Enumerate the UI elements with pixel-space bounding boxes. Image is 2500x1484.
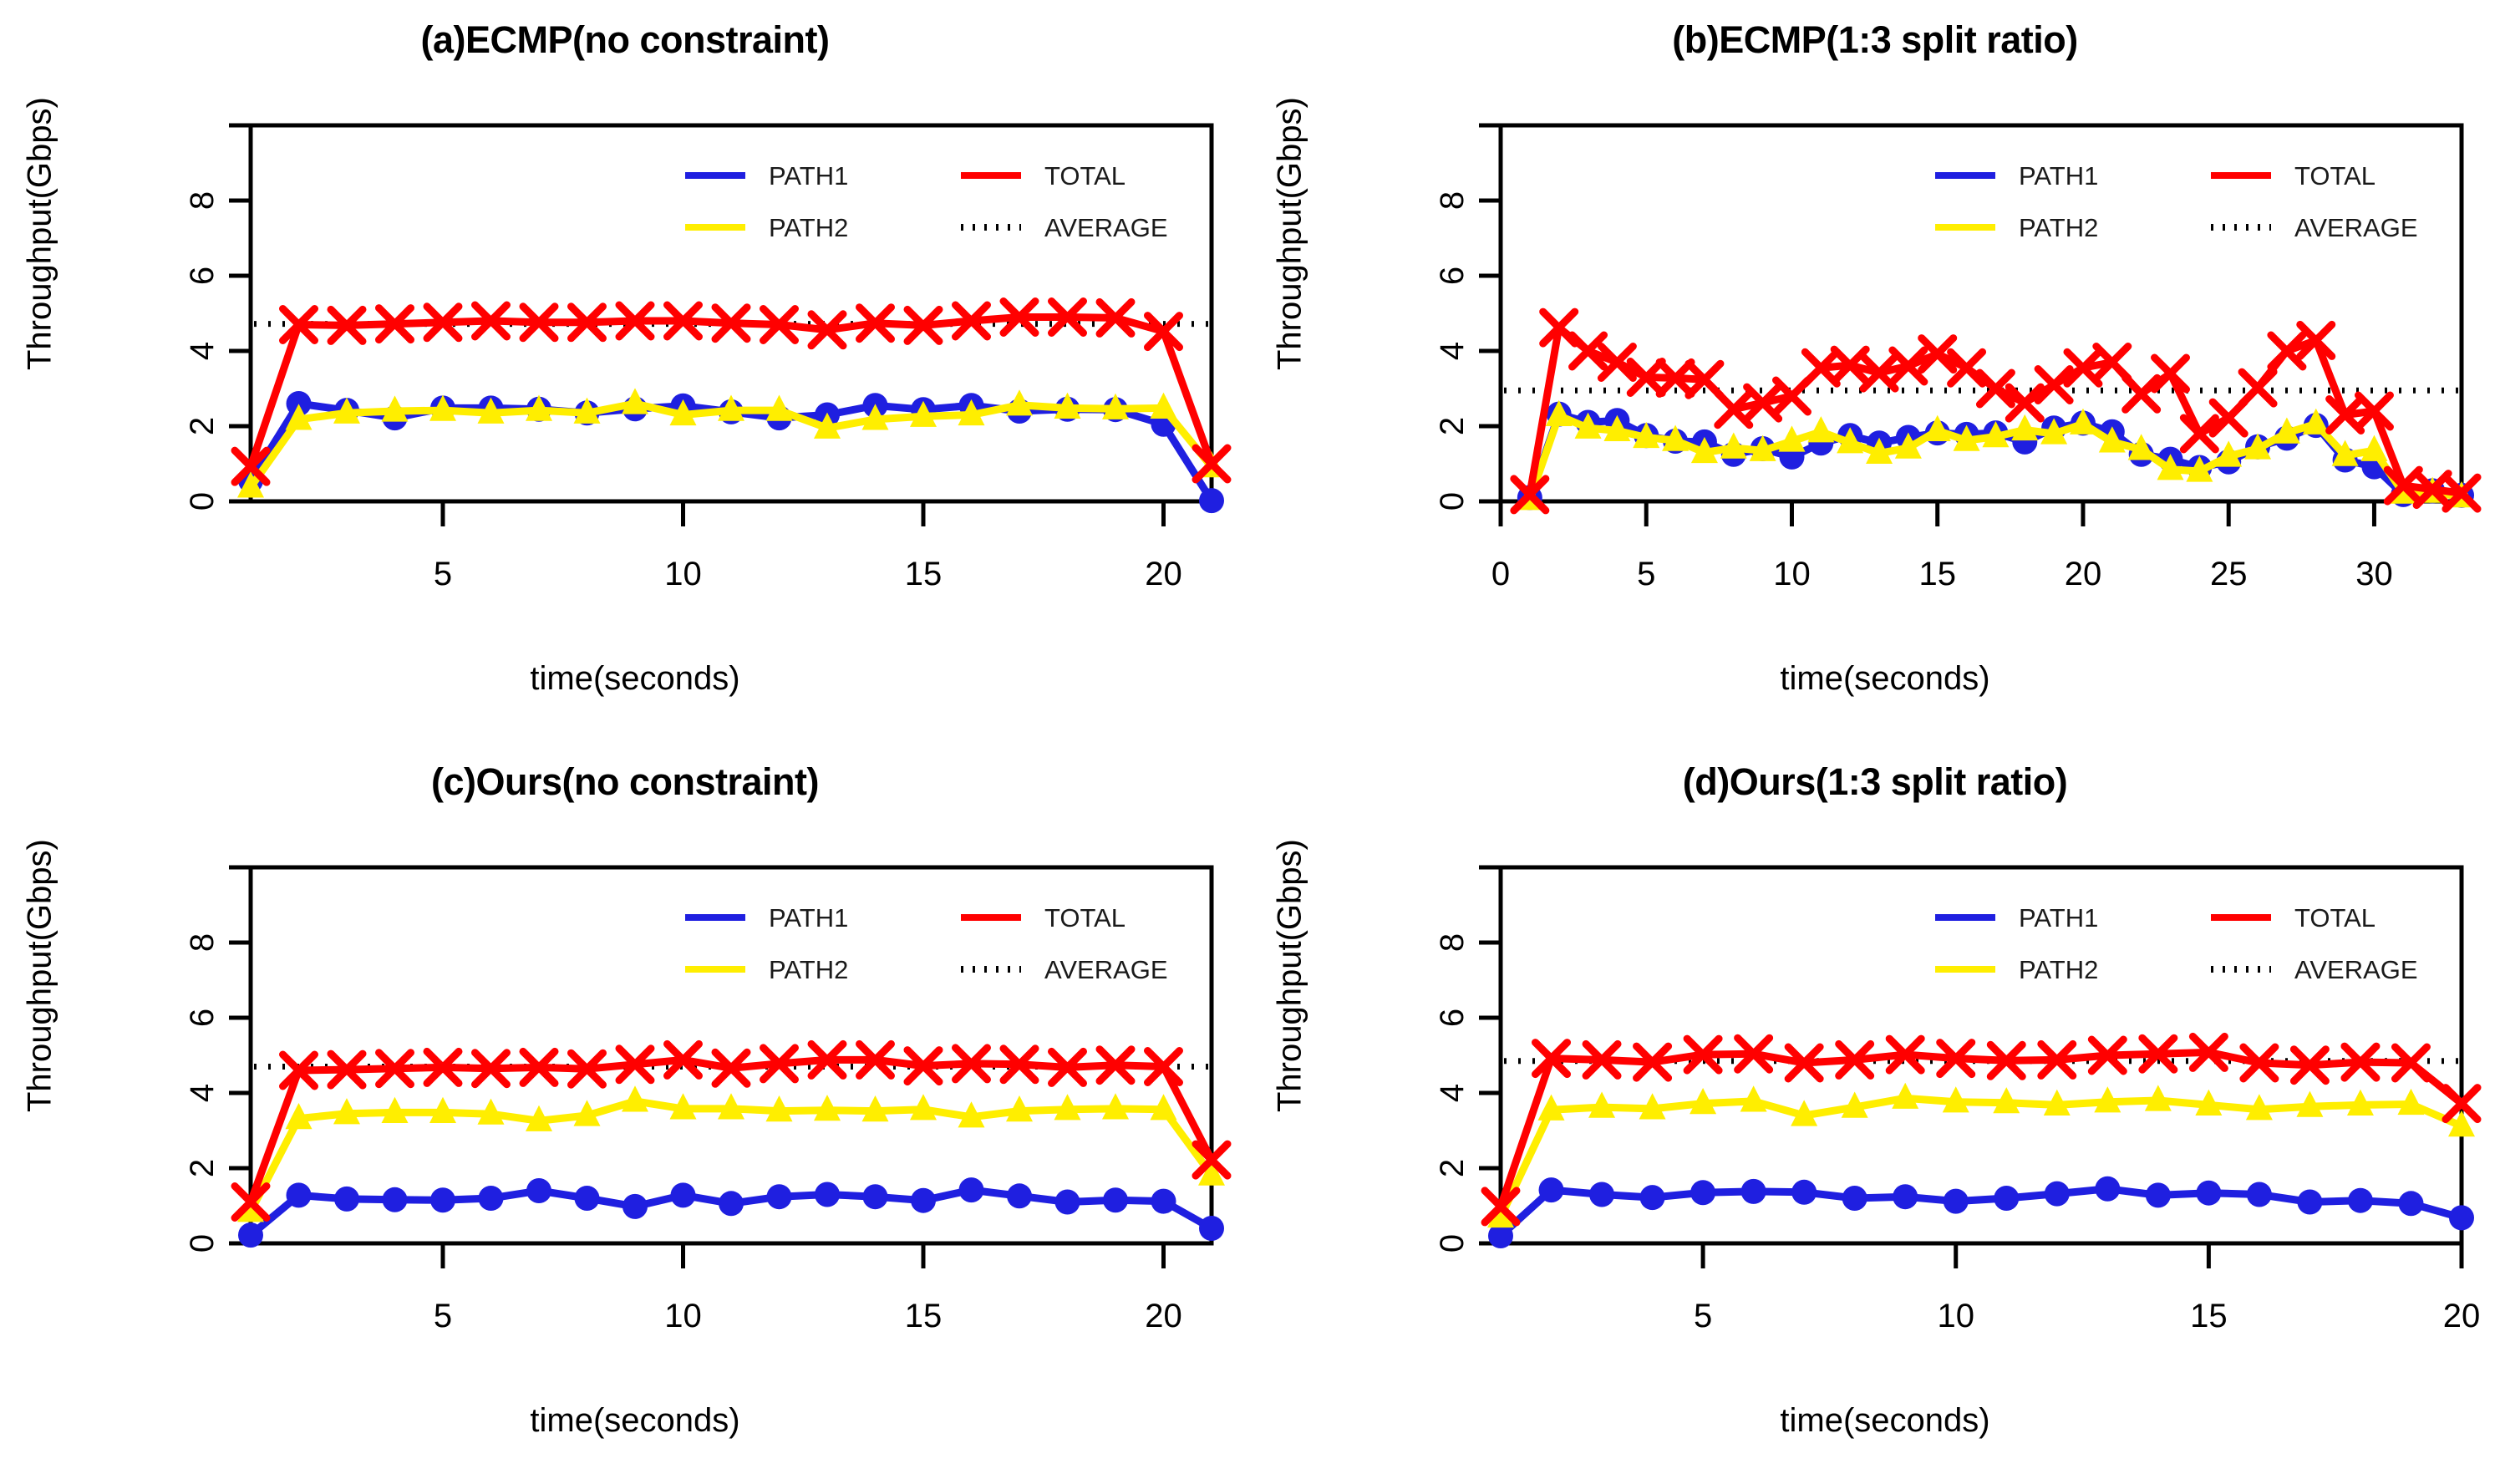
marker-circle	[959, 1177, 984, 1202]
series-line-total	[251, 318, 1212, 467]
marker-circle	[1151, 1189, 1176, 1214]
y-tick-label: 2	[1434, 1159, 1471, 1177]
marker-circle	[767, 1184, 792, 1209]
marker-circle	[1791, 1180, 1817, 1205]
panel-d-svg: 024685101520PATH1PATH2TOTALAVERAGE	[1250, 742, 2500, 1484]
marker-circle	[1741, 1179, 1766, 1204]
marker-circle	[1199, 1216, 1224, 1241]
legend-label-total: TOTAL	[2294, 161, 2376, 191]
series-path1	[1488, 1177, 2474, 1248]
y-tick-label: 4	[1434, 1084, 1471, 1102]
marker-circle	[1690, 1180, 1715, 1205]
x-tick-label: 25	[2210, 556, 2248, 592]
y-tick-label: 6	[184, 267, 221, 285]
panel-c-svg: 024685101520PATH1PATH2TOTALAVERAGE	[0, 742, 1250, 1484]
x-tick-label: 15	[2190, 1298, 2228, 1334]
panel-b-xlabel: time(seconds)	[1384, 660, 2386, 698]
y-tick-label: 0	[184, 492, 221, 511]
marker-circle	[2348, 1188, 2373, 1213]
panel-a: (a)ECMP(no constraint) Throughput(Gbps) …	[0, 0, 1250, 742]
y-tick-label: 8	[1434, 933, 1471, 952]
marker-circle	[1007, 1183, 1032, 1208]
marker-circle	[526, 1178, 551, 1203]
series-total	[235, 302, 1227, 483]
marker-circle	[2196, 1181, 2221, 1206]
x-tick-label: 30	[2355, 556, 2393, 592]
x-tick-label: 15	[905, 556, 943, 592]
series-line-total	[1530, 328, 2462, 495]
x-tick-label: 20	[2443, 1298, 2481, 1334]
marker-circle	[238, 1222, 263, 1248]
marker-circle	[911, 1188, 936, 1213]
marker-circle	[2146, 1182, 2171, 1207]
marker-circle	[719, 1191, 744, 1216]
y-tick-label: 6	[184, 1009, 221, 1027]
panel-d-plot: 024685101520PATH1PATH2TOTALAVERAGE	[1250, 742, 2500, 1484]
marker-circle	[1199, 488, 1224, 513]
y-tick-label: 2	[1434, 417, 1471, 435]
x-tick-label: 0	[1491, 556, 1510, 592]
legend: PATH1PATH2TOTALAVERAGE	[685, 161, 1168, 242]
panel-b: (b)ECMP(1:3 split ratio) Throughput(Gbps…	[1250, 0, 2500, 742]
legend-label-total: TOTAL	[2294, 903, 2376, 933]
panel-a-plot: 024685101520PATH1PATH2TOTALAVERAGE	[0, 0, 1250, 742]
legend-label-path1: PATH1	[2019, 161, 2098, 191]
series-path1	[1517, 402, 2474, 511]
x-tick-label: 5	[1637, 556, 1655, 592]
x-tick-label: 15	[905, 1298, 943, 1334]
panel-d-xlabel: time(seconds)	[1384, 1402, 2386, 1440]
legend-label-path1: PATH1	[769, 161, 848, 191]
panel-b-svg: 02468051015202530PATH1PATH2TOTALAVERAGE	[1250, 0, 2500, 742]
legend-label-path2: PATH2	[769, 955, 848, 984]
y-tick-label: 8	[1434, 191, 1471, 210]
marker-circle	[1893, 1184, 1918, 1209]
marker-circle	[1103, 1187, 1128, 1212]
y-tick-label: 2	[184, 417, 221, 435]
marker-circle	[1640, 1185, 1665, 1210]
marker-circle	[383, 1187, 408, 1212]
marker-circle	[575, 1186, 600, 1211]
marker-circle	[479, 1186, 504, 1211]
panel-a-xlabel: time(seconds)	[134, 660, 1136, 698]
panel-b-plot: 02468051015202530PATH1PATH2TOTALAVERAGE	[1250, 0, 2500, 742]
x-tick-label: 10	[1773, 556, 1811, 592]
legend-label-path1: PATH1	[769, 903, 848, 933]
marker-circle	[863, 1184, 888, 1209]
legend-label-total: TOTAL	[1044, 161, 1126, 191]
legend: PATH1PATH2TOTALAVERAGE	[1935, 903, 2418, 984]
x-tick-label: 20	[1145, 556, 1182, 592]
y-tick-label: 6	[1434, 1009, 1471, 1027]
marker-circle	[2045, 1182, 2070, 1207]
marker-circle	[1842, 1186, 1867, 1211]
y-tick-label: 8	[184, 191, 221, 210]
panel-d: (d)Ours(1:3 split ratio) Throughput(Gbps…	[1250, 742, 2500, 1484]
panel-c-plot: 024685101520PATH1PATH2TOTALAVERAGE	[0, 742, 1250, 1484]
marker-triangle	[1807, 416, 1834, 442]
y-tick-label: 0	[1434, 492, 1471, 511]
marker-circle	[2449, 1205, 2474, 1230]
y-tick-label: 4	[184, 1084, 221, 1102]
marker-circle	[2297, 1190, 2322, 1215]
marker-circle	[1944, 1189, 1969, 1214]
x-tick-label: 10	[664, 556, 702, 592]
panel-c: (c)Ours(no constraint) Throughput(Gbps) …	[0, 742, 1250, 1484]
marker-circle	[2398, 1191, 2423, 1216]
legend-label-average: AVERAGE	[2294, 955, 2418, 984]
legend: PATH1PATH2TOTALAVERAGE	[1935, 161, 2418, 242]
y-tick-label: 2	[184, 1159, 221, 1177]
x-tick-label: 5	[1694, 1298, 1712, 1334]
marker-circle	[1589, 1182, 1614, 1207]
legend-label-path2: PATH2	[2019, 213, 2098, 242]
legend: PATH1PATH2TOTALAVERAGE	[685, 903, 1168, 984]
marker-circle	[1539, 1177, 1564, 1202]
panel-c-xlabel: time(seconds)	[134, 1402, 1136, 1440]
x-tick-label: 5	[434, 1298, 452, 1334]
marker-circle	[1994, 1186, 2019, 1211]
series-line-total	[251, 1060, 1212, 1202]
x-tick-label: 10	[664, 1298, 702, 1334]
figure-root: (a)ECMP(no constraint) Throughput(Gbps) …	[0, 0, 2500, 1484]
series-path2	[1517, 400, 2475, 511]
x-tick-label: 15	[1918, 556, 1956, 592]
marker-circle	[334, 1187, 359, 1212]
x-tick-label: 20	[1145, 1298, 1182, 1334]
x-tick-label: 5	[434, 556, 452, 592]
y-tick-label: 4	[184, 342, 221, 360]
x-tick-label: 20	[2065, 556, 2102, 592]
y-tick-label: 0	[184, 1234, 221, 1253]
legend-label-total: TOTAL	[1044, 903, 1126, 933]
legend-label-path1: PATH1	[2019, 903, 2098, 933]
legend-label-average: AVERAGE	[1044, 955, 1168, 984]
marker-circle	[2095, 1177, 2120, 1202]
marker-circle	[430, 1187, 455, 1212]
x-tick-label: 10	[1937, 1298, 1974, 1334]
y-tick-label: 8	[184, 933, 221, 952]
marker-circle	[671, 1182, 696, 1207]
marker-circle	[287, 1182, 312, 1207]
panel-a-svg: 024685101520PATH1PATH2TOTALAVERAGE	[0, 0, 1250, 742]
series-total	[1514, 312, 2477, 511]
legend-label-average: AVERAGE	[1044, 213, 1168, 242]
marker-triangle	[622, 1085, 648, 1111]
series-path2	[1487, 1083, 2475, 1227]
legend-label-average: AVERAGE	[2294, 213, 2418, 242]
legend-label-path2: PATH2	[2019, 955, 2098, 984]
marker-circle	[622, 1194, 648, 1219]
legend-label-path2: PATH2	[769, 213, 848, 242]
series-path1	[238, 1177, 1224, 1248]
marker-circle	[815, 1182, 840, 1207]
y-tick-label: 0	[1434, 1234, 1471, 1253]
y-tick-label: 6	[1434, 267, 1471, 285]
marker-circle	[2247, 1182, 2272, 1207]
y-tick-label: 4	[1434, 342, 1471, 360]
marker-circle	[1055, 1190, 1080, 1215]
